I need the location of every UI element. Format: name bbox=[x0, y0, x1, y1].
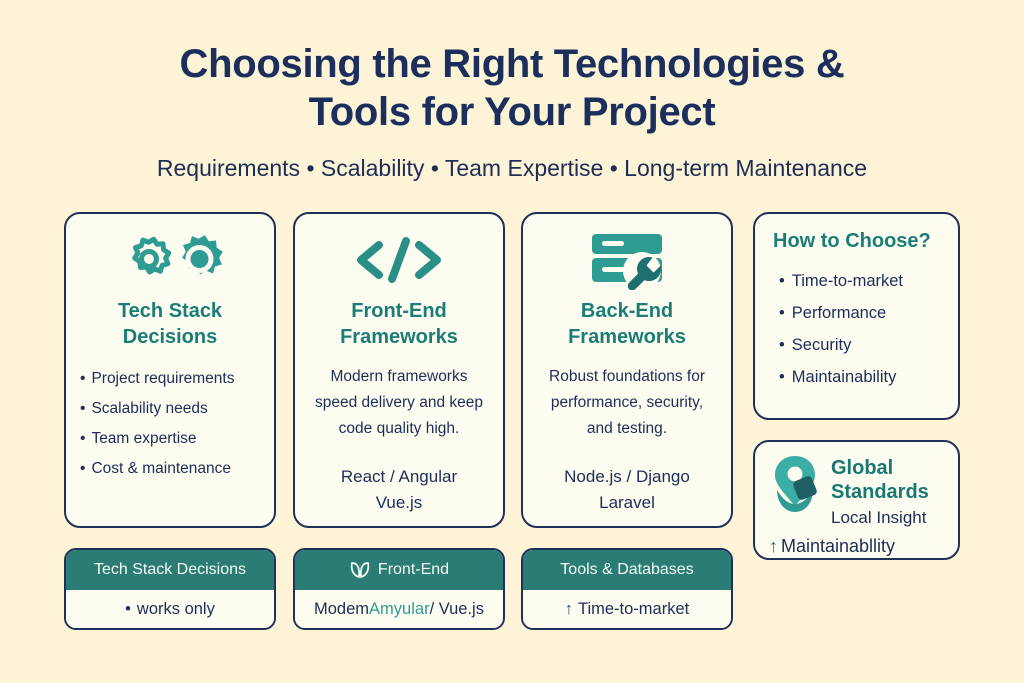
page-title-line-1: Choosing the Right Technologies & bbox=[102, 40, 922, 88]
bullet-dot: • bbox=[779, 272, 785, 290]
strip-header: Front-End bbox=[295, 550, 503, 590]
card-body-text: Robust foundations for performance, secu… bbox=[533, 364, 721, 442]
page-title: Choosing the Right Technologies & Tools … bbox=[102, 40, 922, 136]
list-item-label: Scalability needs bbox=[91, 400, 207, 417]
card-global-standards[interactable]: Global Standards Local Insight ↑Maintain… bbox=[753, 440, 960, 560]
list-item: •Security bbox=[779, 329, 940, 361]
column-side-panels: How to Choose? •Time-to-market •Performa… bbox=[753, 212, 960, 560]
card-stack-text: Node.js / Django Laravel bbox=[533, 464, 721, 516]
arrow-up-icon: ↑ bbox=[769, 536, 778, 556]
strip-header: Tech Stack Decisions bbox=[66, 550, 274, 590]
list-item-label: Maintainability bbox=[792, 368, 897, 386]
code-brackets-icon bbox=[305, 230, 493, 290]
bullet-dot: • bbox=[779, 304, 785, 322]
strip-tech-stack[interactable]: Tech Stack Decisions • works only bbox=[64, 548, 276, 630]
global-footer-label: Maintainabllity bbox=[781, 536, 895, 556]
list-item-label: Performance bbox=[792, 304, 886, 322]
card-body-text: Modern frameworks speed delivery and kee… bbox=[305, 364, 493, 442]
strip-body-label: works only bbox=[137, 600, 215, 619]
list-item: •Performance bbox=[779, 297, 940, 329]
column-front-end: Front-End Frameworks Modern frameworks s… bbox=[293, 212, 505, 528]
gears-icon bbox=[76, 230, 264, 290]
list-item-label: Time-to-market bbox=[792, 272, 903, 290]
bullet-dot: • bbox=[779, 336, 785, 354]
strip-body: ↑ Time-to-market bbox=[523, 590, 731, 628]
server-wrench-icon bbox=[533, 230, 721, 290]
strip-body-prefix: Modem bbox=[314, 600, 369, 619]
global-title-line-2: Standards bbox=[831, 480, 929, 504]
list-item: •Scalability needs bbox=[80, 394, 260, 424]
strip-body-highlight: Amyular bbox=[369, 600, 430, 619]
card-stack-text: React / Angular Vue.js bbox=[305, 464, 493, 516]
list-item-label: Team expertise bbox=[91, 430, 196, 447]
header: Choosing the Right Technologies & Tools … bbox=[0, 0, 1024, 182]
bullet-dot: • bbox=[779, 368, 785, 386]
list-item: •Cost & maintenance bbox=[80, 454, 260, 484]
global-standards-texts: Global Standards Local Insight bbox=[831, 454, 929, 530]
strip-body-label: Time-to-market bbox=[578, 600, 689, 619]
card-title: Back-End Frameworks bbox=[533, 298, 721, 350]
strip-front-end[interactable]: Front-End Modem Amyular / Vue.js bbox=[293, 548, 505, 630]
global-standards-row: Global Standards Local Insight bbox=[769, 454, 944, 530]
strip-header-label: Tech Stack Decisions bbox=[94, 550, 246, 590]
strip-header-label: Front-End bbox=[378, 550, 449, 590]
location-pin-icon bbox=[769, 454, 821, 516]
infographic-page: Choosing the Right Technologies & Tools … bbox=[0, 0, 1024, 683]
card-title: Front-End Frameworks bbox=[305, 298, 493, 350]
stack-line-2: Vue.js bbox=[305, 490, 493, 516]
strip-header: Tools & Databases bbox=[523, 550, 731, 590]
list-item: •Time-to-market bbox=[779, 265, 940, 297]
list-item-label: Security bbox=[792, 336, 852, 354]
bullet-dot: • bbox=[80, 430, 85, 447]
card-bullet-list: •Project requirements •Scalability needs… bbox=[76, 364, 264, 484]
leaf-icon bbox=[349, 561, 371, 579]
stack-line-1: Node.js / Django bbox=[533, 464, 721, 490]
list-item: •Maintainability bbox=[779, 361, 940, 393]
column-back-end: Back-End Frameworks Robust foundations f… bbox=[521, 212, 733, 528]
page-subtitle: Requirements • Scalability • Team Expert… bbox=[0, 154, 1024, 182]
global-title: Global Standards bbox=[831, 456, 929, 504]
card-front-end-frameworks[interactable]: Front-End Frameworks Modern frameworks s… bbox=[293, 212, 505, 528]
global-footer: ↑Maintainabllity bbox=[769, 536, 944, 557]
bullet-dot: • bbox=[125, 600, 131, 619]
stack-line-2: Laravel bbox=[533, 490, 721, 516]
page-title-line-2: Tools for Your Project bbox=[102, 88, 922, 136]
bullet-dot: • bbox=[80, 460, 85, 477]
card-tech-stack-decisions[interactable]: Tech Stack Decisions •Project requiremen… bbox=[64, 212, 276, 528]
list-item: •Team expertise bbox=[80, 424, 260, 454]
strip-body: • works only bbox=[66, 590, 274, 628]
list-item-label: Cost & maintenance bbox=[91, 460, 231, 477]
bullet-dot: • bbox=[80, 370, 85, 387]
list-item-label: Project requirements bbox=[91, 370, 234, 387]
stack-line-1: React / Angular bbox=[305, 464, 493, 490]
choose-list: •Time-to-market •Performance •Security •… bbox=[773, 265, 940, 393]
strip-tools-databases[interactable]: Tools & Databases ↑ Time-to-market bbox=[521, 548, 733, 630]
column-tech-stack: Tech Stack Decisions •Project requiremen… bbox=[64, 212, 276, 528]
global-subtitle: Local Insight bbox=[831, 506, 929, 530]
cards-board: Tech Stack Decisions •Project requiremen… bbox=[64, 212, 960, 632]
card-back-end-frameworks[interactable]: Back-End Frameworks Robust foundations f… bbox=[521, 212, 733, 528]
strip-body-suffix: / Vue.js bbox=[430, 600, 484, 619]
strip-header-label: Tools & Databases bbox=[560, 550, 693, 590]
list-item: •Project requirements bbox=[80, 364, 260, 394]
arrow-up-icon: ↑ bbox=[565, 600, 573, 619]
bullet-dot: • bbox=[80, 400, 85, 417]
card-title: Tech Stack Decisions bbox=[76, 298, 264, 350]
global-title-line-1: Global bbox=[831, 456, 929, 480]
card-how-to-choose[interactable]: How to Choose? •Time-to-market •Performa… bbox=[753, 212, 960, 420]
strip-body: Modem Amyular / Vue.js bbox=[295, 590, 503, 628]
choose-title: How to Choose? bbox=[773, 230, 940, 253]
